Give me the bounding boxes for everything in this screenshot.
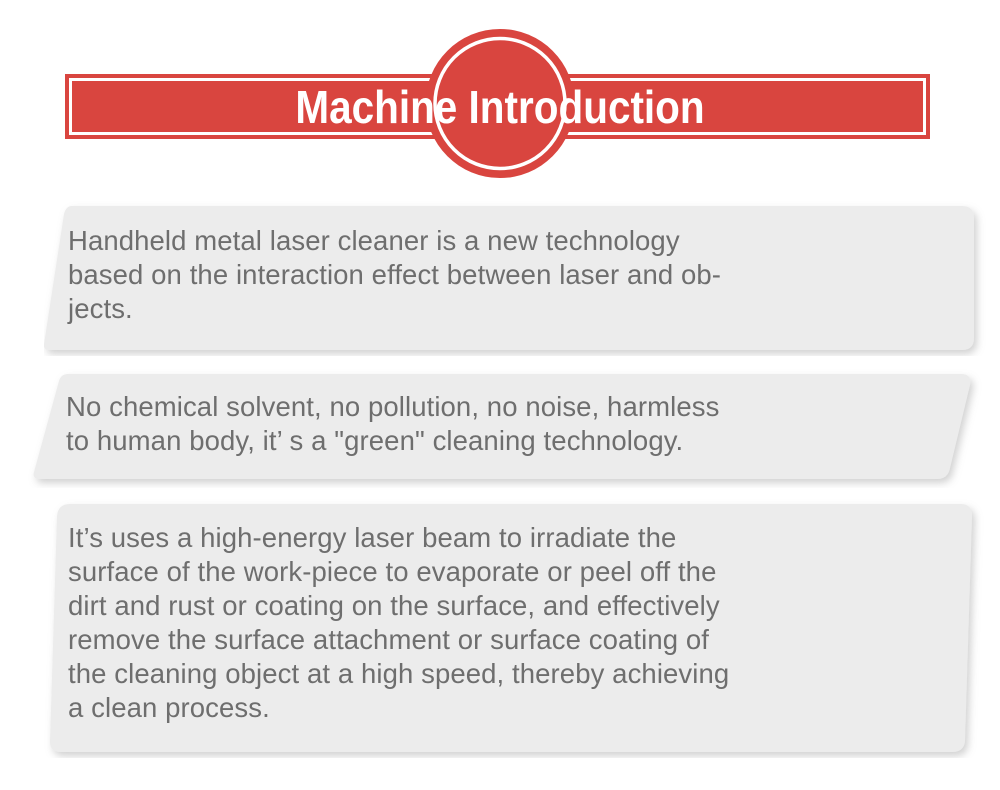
info-panel-3: It’s uses a high-energy laser beam to ir… [44,496,1000,758]
panel-2-text: No chemical solvent, no pollution, no no… [24,368,966,458]
panel-3-text: It’s uses a high-energy laser beam to ir… [44,496,958,725]
panel-1-line-2: based on the interaction effect between … [68,258,948,292]
panel-3-line-4: remove the surface attachment or surface… [68,623,958,657]
panel-3-line-1: It’s uses a high-energy laser beam to ir… [68,521,958,555]
panel-3-line-3: dirt and rust or coating on the surface,… [68,589,958,623]
panel-1-line-1: Handheld metal laser cleaner is a new te… [68,224,948,258]
panel-1-text: Handheld metal laser cleaner is a new te… [44,198,948,326]
panel-3-line-2: surface of the work-piece to evaporate o… [68,555,958,589]
panel-3-line-5: the cleaning object at a high speed, the… [68,657,958,691]
panel-1-line-3: jects. [68,292,948,326]
info-panel-2: No chemical solvent, no pollution, no no… [24,368,1000,488]
panel-2-line-1: No chemical solvent, no pollution, no no… [66,390,966,424]
panel-2-line-2: to human body, it’ s a "green" cleaning … [66,424,966,458]
header-banner: Machine Introduction [0,0,1000,195]
panel-3-line-6: a clean process. [68,691,958,725]
page-title: Machine Introduction [60,74,940,140]
info-panel-1: Handheld metal laser cleaner is a new te… [44,198,1000,356]
